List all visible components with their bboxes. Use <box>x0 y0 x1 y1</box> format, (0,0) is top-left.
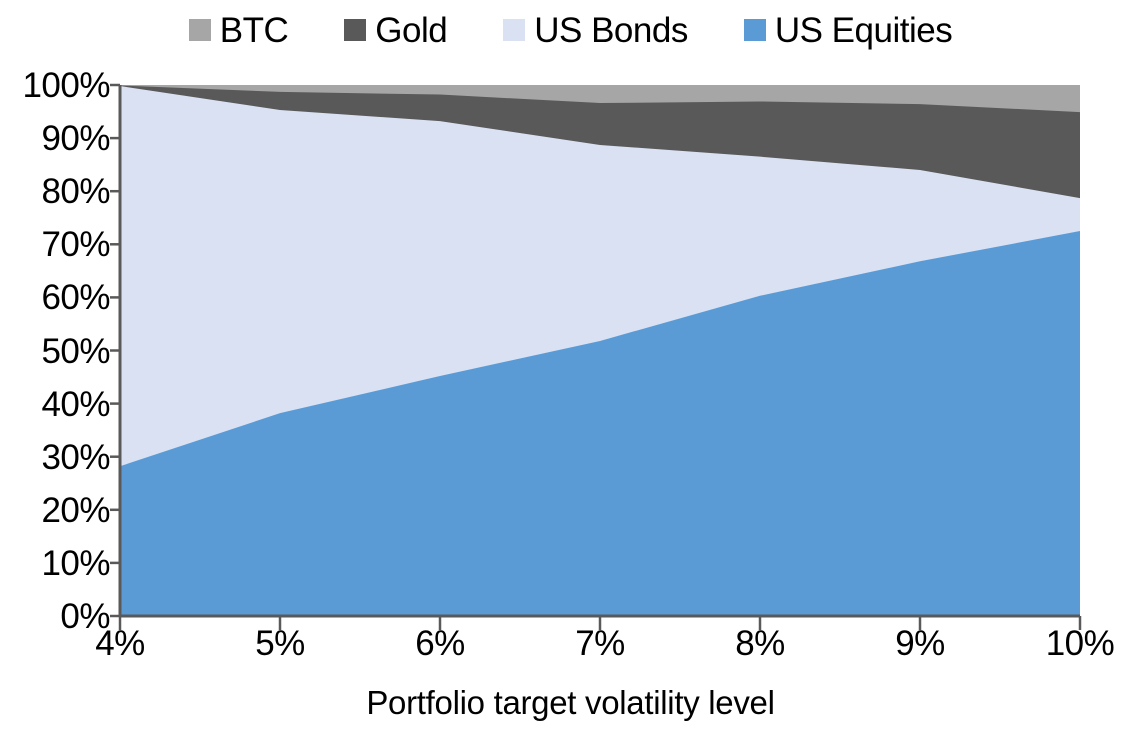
y-axis-tick-label: 50% <box>6 334 110 369</box>
y-axis-tick-label: 80% <box>6 174 110 209</box>
x-axis-tick-label: 4% <box>60 626 180 661</box>
y-axis-tick-label: 10% <box>6 546 110 581</box>
x-axis-tick-label: 7% <box>540 626 660 661</box>
x-axis-tick-label: 8% <box>700 626 820 661</box>
stacked-area-chart: BTC Gold US Bonds US Equities 0%10%20%30… <box>0 0 1141 742</box>
y-axis-tick-label: 60% <box>6 280 110 315</box>
y-axis-tick-label: 90% <box>6 121 110 156</box>
y-axis-tick-label: 40% <box>6 387 110 422</box>
area-series-group <box>120 85 1080 616</box>
x-axis-tick-label: 6% <box>380 626 500 661</box>
y-axis-tick-label: 70% <box>6 227 110 262</box>
y-axis-tick-label: 30% <box>6 440 110 475</box>
x-axis-tick-label: 10% <box>1020 626 1140 661</box>
x-axis-tick-label: 9% <box>860 626 980 661</box>
x-axis-tick-label: 5% <box>220 626 340 661</box>
x-axis-title: Portfolio target volatility level <box>0 686 1141 719</box>
y-axis-tick-label: 100% <box>6 68 110 103</box>
y-axis-tick-label: 20% <box>6 493 110 528</box>
